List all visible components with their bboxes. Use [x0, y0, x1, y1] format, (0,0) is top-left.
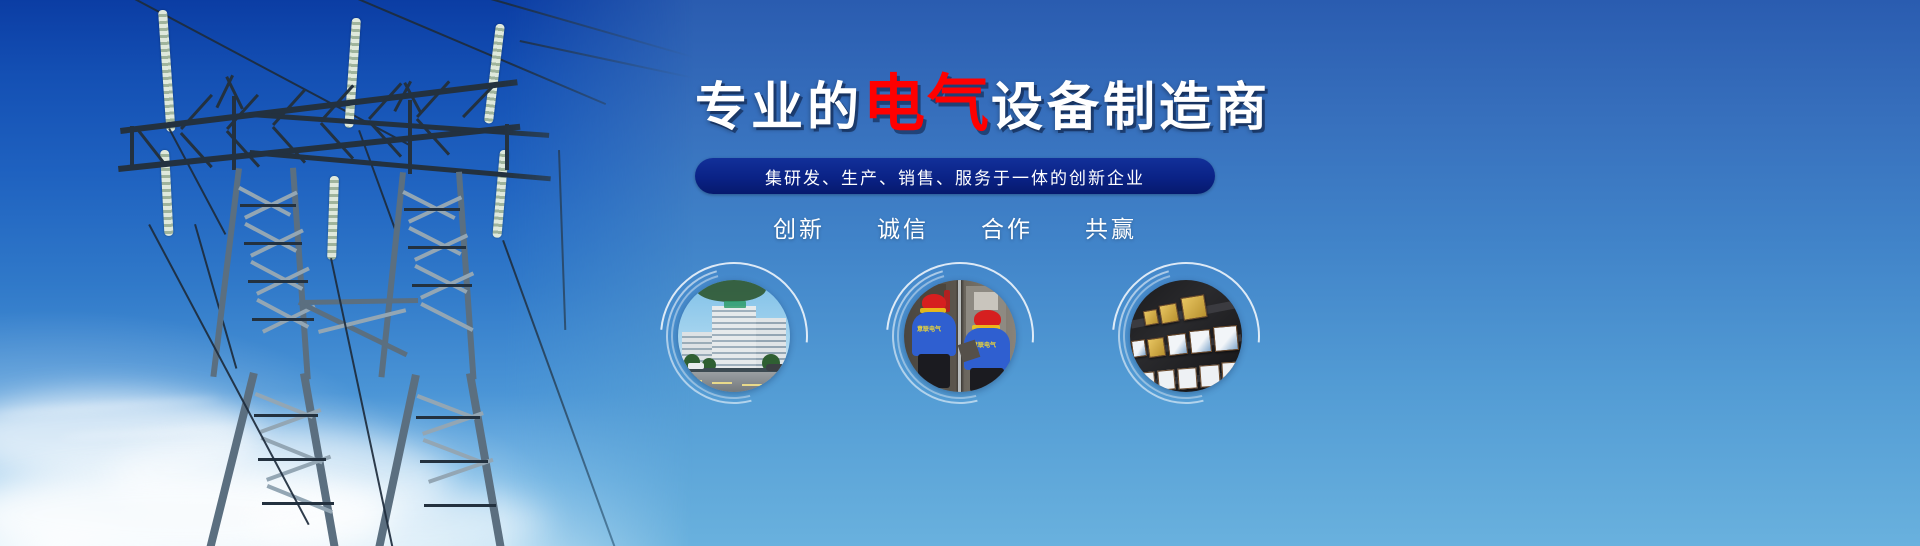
hero-banner: 专业的电气设备制造商 集研发、生产、销售、服务于一体的创新企业 创新 诚信 合作… [0, 0, 1920, 546]
circle-photo-certificates [1112, 262, 1260, 410]
circle-photo-workers: 意联电气 意联电气 [886, 262, 1034, 410]
keyword-innovation: 创新 [773, 210, 825, 244]
keyword-integrity: 诚信 [877, 210, 929, 244]
lattice-tower [0, 0, 700, 546]
keyword-row: 创新 诚信 合作 共赢 [695, 210, 1215, 244]
headline: 专业的电气设备制造商 [695, 74, 1215, 136]
circle-photo-office-building [660, 262, 808, 410]
subtitle-pill: 集研发、生产、销售、服务于一体的创新企业 [695, 158, 1215, 194]
headline-highlight: 电气 [863, 70, 991, 139]
circle-photo-row: 意联电气 意联电气 [660, 262, 1260, 412]
subtitle-text: 集研发、生产、销售、服务于一体的创新企业 [765, 164, 1145, 189]
workers-image: 意联电气 意联电气 [904, 280, 1016, 392]
keyword-winwin: 共赢 [1085, 210, 1137, 244]
transmission-tower-photo [0, 0, 700, 546]
certificate-wall-image [1130, 280, 1242, 392]
headline-prefix: 专业的 [695, 79, 863, 137]
office-building-image [678, 280, 790, 392]
headline-suffix: 设备制造商 [991, 79, 1271, 137]
keyword-cooperation: 合作 [981, 210, 1033, 244]
